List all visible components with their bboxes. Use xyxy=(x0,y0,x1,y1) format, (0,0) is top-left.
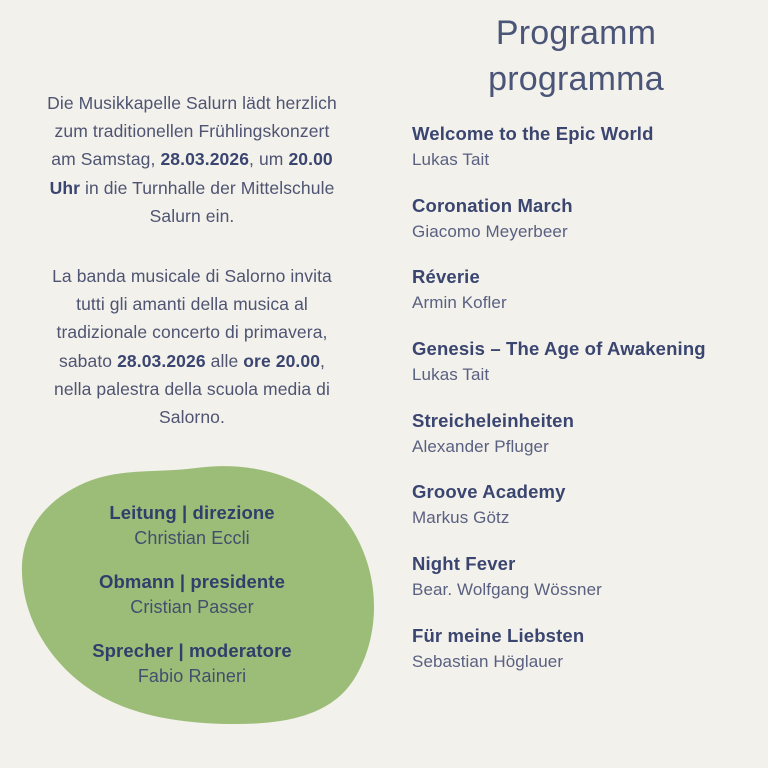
credit-name: Christian Eccli xyxy=(24,526,360,552)
credit-role: Sprecher | moderatore xyxy=(24,638,360,664)
concert-poster: Die Musikkapelle Salurn lädt herzlich zu… xyxy=(0,0,768,768)
program-composer: Armin Kofler xyxy=(412,291,768,316)
program-heading: Programm programma xyxy=(384,10,768,102)
program-piece-title: Genesis – The Age of Awakening xyxy=(412,337,768,361)
credit-item-sprecher: Sprecher | moderatore Fabio Raineri xyxy=(24,638,360,690)
invitation-it-mid: alle xyxy=(206,351,244,371)
invitation-it-time: ore 20.00 xyxy=(243,351,320,371)
credits-list: Leitung | direzione Christian Eccli Obma… xyxy=(24,500,360,689)
program-item: Genesis – The Age of Awakening Lukas Tai… xyxy=(412,337,768,388)
invitation-text-italian: La banda musicale di Salorno invita tutt… xyxy=(44,262,340,432)
credit-role: Obmann | presidente xyxy=(24,569,360,595)
credit-item-leitung: Leitung | direzione Christian Eccli xyxy=(24,500,360,552)
program-composer: Lukas Tait xyxy=(412,148,768,173)
program-piece-title: Streicheleinheiten xyxy=(412,409,768,433)
program-composer: Sebastian Höglauer xyxy=(412,650,768,675)
program-piece-title: Night Fever xyxy=(412,552,768,576)
program-composer: Bear. Wolfgang Wössner xyxy=(412,578,768,603)
program-piece-title: Groove Academy xyxy=(412,480,768,504)
program-item: Streicheleinheiten Alexander Pfluger xyxy=(412,409,768,460)
credit-name: Fabio Raineri xyxy=(24,664,360,690)
program-composer: Alexander Pfluger xyxy=(412,435,768,460)
program-item: Coronation March Giacomo Meyerbeer xyxy=(412,194,768,245)
credit-name: Cristian Passer xyxy=(24,595,360,621)
program-piece-title: Coronation March xyxy=(412,194,768,218)
program-piece-title: Réverie xyxy=(412,265,768,289)
right-column: Programm programma Welcome to the Epic W… xyxy=(384,0,768,768)
invitation-it-date: 28.03.2026 xyxy=(117,351,206,371)
credit-role: Leitung | direzione xyxy=(24,500,360,526)
program-composer: Lukas Tait xyxy=(412,363,768,388)
left-column: Die Musikkapelle Salurn lädt herzlich zu… xyxy=(0,0,384,768)
invitation-de-suffix: in die Turnhalle der Mittelschule Salurn… xyxy=(80,178,334,226)
program-item: Réverie Armin Kofler xyxy=(412,265,768,316)
invitation-text-german: Die Musikkapelle Salurn lädt herzlich zu… xyxy=(44,89,340,231)
program-composer: Markus Götz xyxy=(412,506,768,531)
program-piece-title: Welcome to the Epic World xyxy=(412,122,768,146)
program-heading-german: Programm xyxy=(496,14,656,52)
program-list: Welcome to the Epic World Lukas Tait Cor… xyxy=(412,122,768,675)
program-composer: Giacomo Meyerbeer xyxy=(412,220,768,245)
invitation-de-mid: , um xyxy=(249,149,288,169)
invitation-de-date: 28.03.2026 xyxy=(160,149,249,169)
program-item: Für meine Liebsten Sebastian Höglauer xyxy=(412,624,768,675)
program-heading-italian: programma xyxy=(384,56,768,102)
program-item: Welcome to the Epic World Lukas Tait xyxy=(412,122,768,173)
credit-item-obmann: Obmann | presidente Cristian Passer xyxy=(24,569,360,621)
program-item: Groove Academy Markus Götz xyxy=(412,480,768,531)
program-item: Night Fever Bear. Wolfgang Wössner xyxy=(412,552,768,603)
program-piece-title: Für meine Liebsten xyxy=(412,624,768,648)
